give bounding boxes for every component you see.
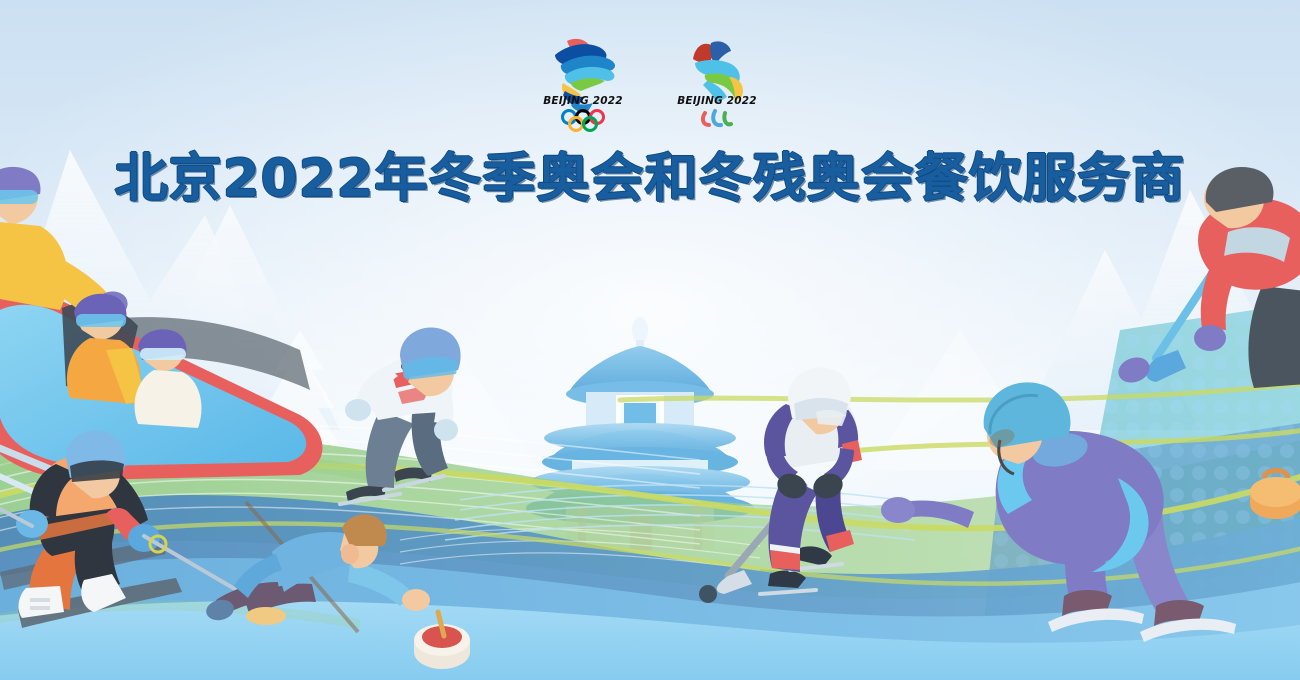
curling-stone-orange [1250, 471, 1300, 520]
beijing-2022-olympic-emblem: BEIJING 2022 [537, 33, 629, 133]
short-track-speed-skater [340, 328, 461, 504]
olympics-catering-banner: BEIJING 2022 [0, 0, 1300, 680]
olympic-wordmark: BEIJING 2022 [543, 95, 623, 107]
page-title: 北京2022年冬季奥会和冬残奥会餐饮服务商 [115, 153, 1186, 205]
speed-skater [881, 382, 1236, 642]
olympic-rings [563, 111, 604, 131]
beijing-2022-paralympic-emblem: BEIJING 2022 [671, 33, 763, 133]
banner-title-container: 北京2022年冬季奥会和冬残奥会餐饮服务商 [0, 146, 1300, 212]
paralympic-wordmark: BEIJING 2022 [677, 95, 757, 107]
curling-stone-red [414, 612, 470, 669]
wheelchair-curler [204, 502, 470, 669]
agitos-symbol [703, 111, 731, 125]
emblems-row: BEIJING 2022 [0, 33, 1300, 138]
fei-yue-symbol [693, 41, 743, 103]
ice-hockey-player [699, 368, 862, 603]
